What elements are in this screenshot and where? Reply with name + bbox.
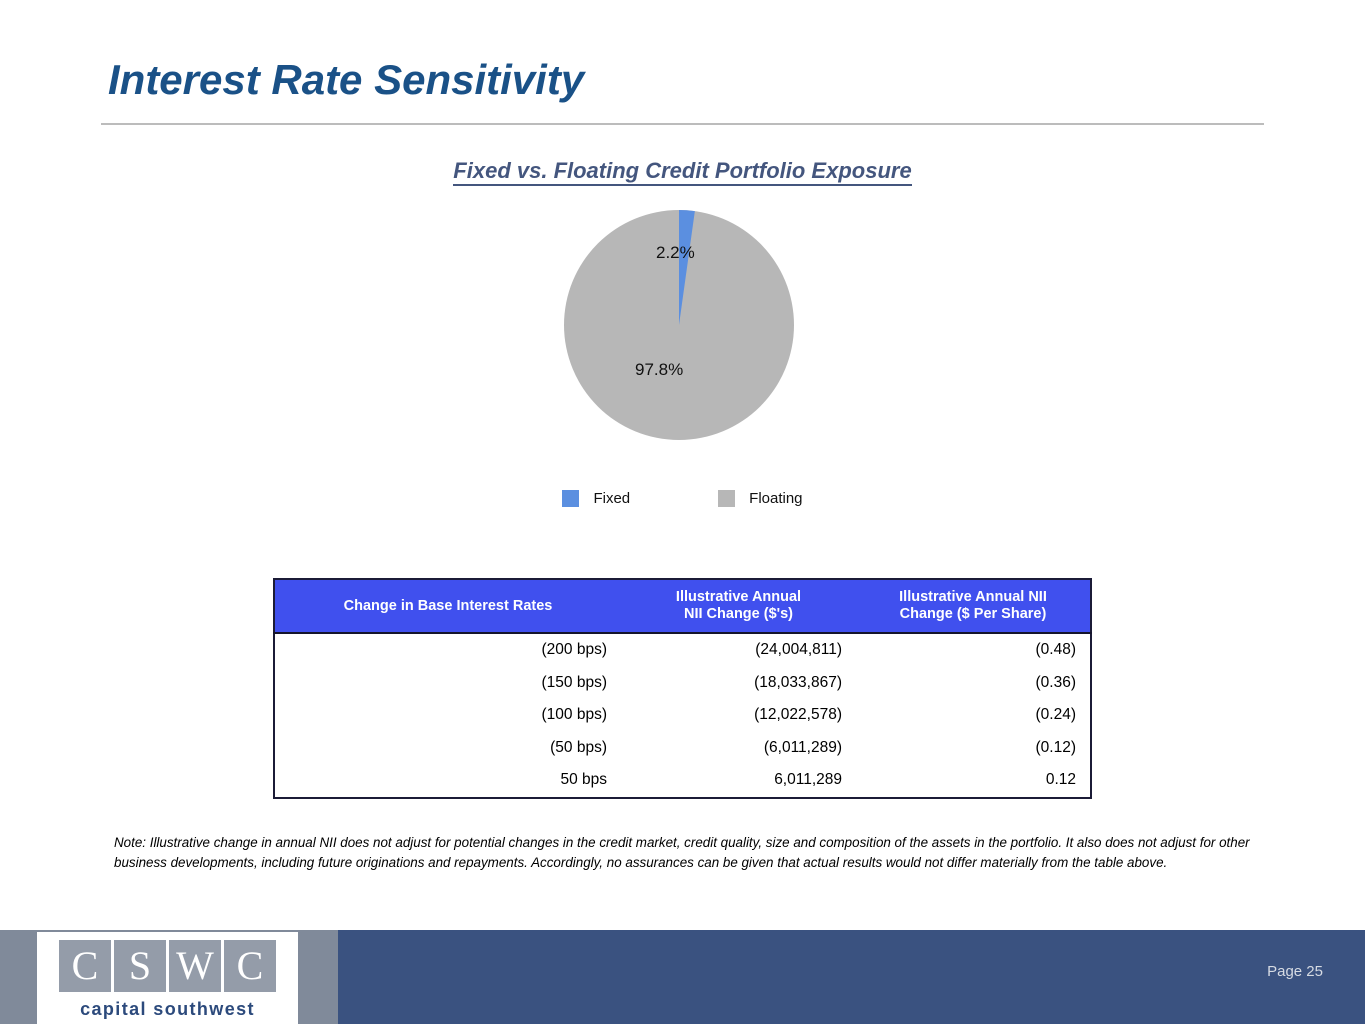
logo-wordmark: capital southwest — [80, 999, 255, 1020]
legend-item-floating: Floating — [718, 490, 802, 507]
table-row: (200 bps)(24,004,811)(0.48) — [274, 633, 1091, 666]
table-header-row: Change in Base Interest Rates Illustrati… — [274, 579, 1091, 633]
table-cell-rate-change: 50 bps — [274, 764, 621, 797]
logo-letter-blocks: CSWC — [59, 940, 276, 992]
table-cell-nii-dollars: (12,022,578) — [621, 699, 856, 731]
table-cell-nii-per-share: (0.12) — [856, 732, 1091, 764]
legend-swatch-floating-icon — [718, 490, 735, 507]
table-header-change-in-base-interest-rates: Change in Base Interest Rates — [274, 579, 621, 633]
logo-letter-c: C — [59, 940, 111, 992]
legend-label-floating: Floating — [749, 490, 802, 507]
footnote-note: Note: Illustrative change in annual NII … — [114, 833, 1269, 874]
table-cell-rate-change: (200 bps) — [274, 633, 621, 666]
table-header-line: Change ($ Per Share) — [900, 606, 1047, 622]
table-header-annual-nii-change-per-share: Illustrative Annual NIIChange ($ Per Sha… — [856, 579, 1091, 633]
table-cell-nii-dollars: (6,011,289) — [621, 732, 856, 764]
interest-rate-sensitivity-table: Change in Base Interest Rates Illustrati… — [273, 578, 1092, 799]
table-row: (100 bps)(12,022,578)(0.24) — [274, 699, 1091, 731]
table-cell-rate-change: (100 bps) — [274, 699, 621, 731]
legend-label-fixed: Fixed — [593, 490, 630, 507]
page-title: Interest Rate Sensitivity — [108, 56, 584, 104]
pie-chart: 2.2% 97.8% — [564, 210, 794, 440]
table-header-line: NII Change ($'s) — [684, 606, 793, 622]
page-number: Page 25 — [1267, 963, 1323, 980]
table-cell-nii-per-share: 0.12 — [856, 764, 1091, 797]
logo-letter-s: S — [114, 940, 166, 992]
table-cell-nii-per-share: (0.36) — [856, 667, 1091, 699]
pie-label-floating: 97.8% — [635, 360, 683, 380]
table-header-annual-nii-change-dollars: Illustrative AnnualNII Change ($'s) — [621, 579, 856, 633]
legend-swatch-fixed-icon — [562, 490, 579, 507]
table-row: 50 bps6,011,2890.12 — [274, 764, 1091, 797]
table-row: (150 bps)(18,033,867)(0.36) — [274, 667, 1091, 699]
footer-blue-band — [338, 930, 1365, 1024]
table-cell-rate-change: (50 bps) — [274, 732, 621, 764]
table-cell-nii-dollars: (18,033,867) — [621, 667, 856, 699]
table-cell-nii-dollars: (24,004,811) — [621, 633, 856, 666]
table-body: (200 bps)(24,004,811)(0.48)(150 bps)(18,… — [274, 633, 1091, 797]
table-cell-nii-per-share: (0.48) — [856, 633, 1091, 666]
chart-subtitle-text: Fixed vs. Floating Credit Portfolio Expo… — [453, 158, 911, 186]
table-header: Change in Base Interest Rates Illustrati… — [274, 579, 1091, 633]
cswc-logo: CSWC capital southwest — [37, 932, 298, 1024]
title-divider — [101, 123, 1264, 125]
table-header-line: Illustrative Annual NII — [899, 589, 1047, 605]
table-cell-nii-per-share: (0.24) — [856, 699, 1091, 731]
pie-label-fixed: 2.2% — [656, 243, 695, 263]
chart-subtitle: Fixed vs. Floating Credit Portfolio Expo… — [0, 158, 1365, 184]
table-header-line: Change in Base Interest Rates — [344, 598, 553, 614]
table-cell-nii-dollars: 6,011,289 — [621, 764, 856, 797]
table-header-line: Illustrative Annual — [676, 589, 801, 605]
table-row: (50 bps)(6,011,289)(0.12) — [274, 732, 1091, 764]
table-cell-rate-change: (150 bps) — [274, 667, 621, 699]
logo-letter-c: C — [224, 940, 276, 992]
slide-footer: CSWC capital southwest Page 25 — [0, 930, 1365, 1024]
chart-legend: Fixed Floating — [0, 490, 1365, 507]
logo-letter-w: W — [169, 940, 221, 992]
legend-item-fixed: Fixed — [562, 490, 630, 507]
